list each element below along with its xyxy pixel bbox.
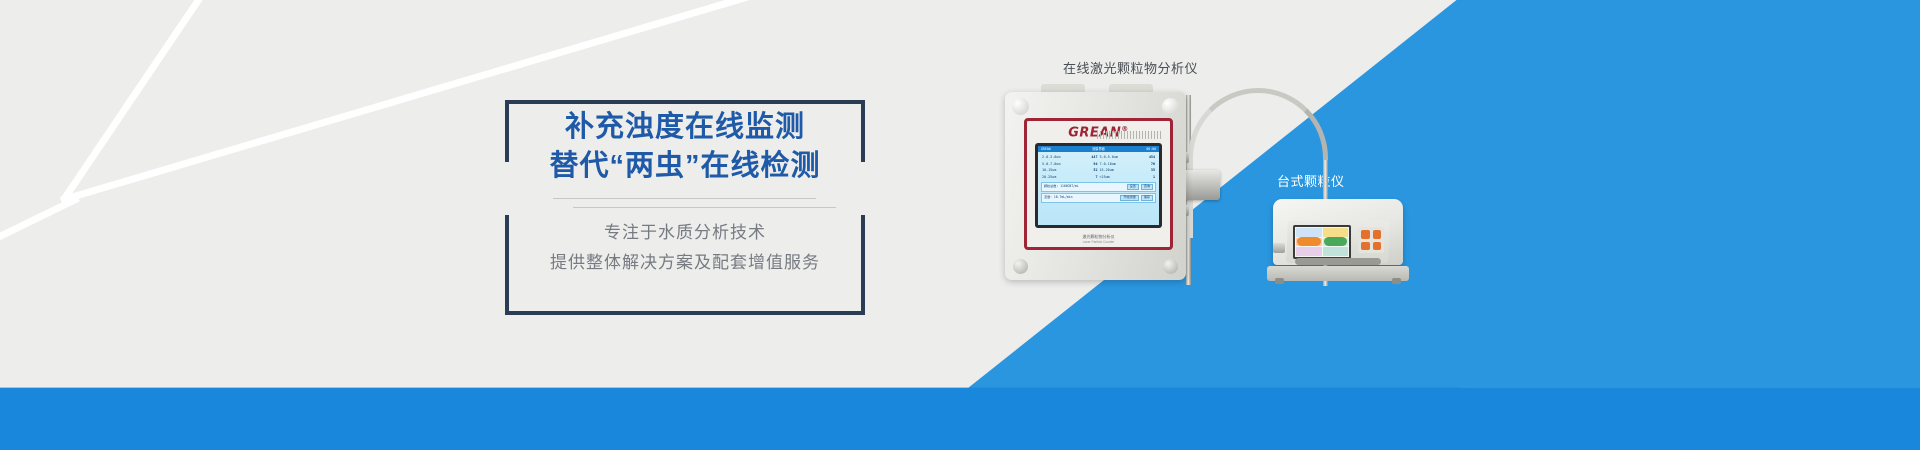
screen-tile [1323, 228, 1349, 237]
keypad-button[interactable] [1373, 242, 1382, 251]
analyzer-model-en: Laser Particle Counter [1027, 240, 1170, 244]
headline: 补充浊度在线监测 替代“两虫”在线检测 [505, 108, 865, 186]
count-value: 7 [1095, 175, 1097, 179]
size-range: 3.0-5.0um [1100, 155, 1118, 159]
desktop-handle-slot [1295, 258, 1381, 265]
screen-data-row: 10-15um52 15-20um35 [1042, 168, 1155, 172]
size-range: 10-15um [1042, 168, 1056, 172]
screen-tile [1323, 247, 1349, 256]
count-value: 76 [1151, 162, 1155, 166]
analyzer-bezel: GREAN® GREAN 测量界面 00:00 2.0-3.0um447 3.0… [1024, 118, 1173, 250]
headline-line-2: 替代“两虫”在线检测 [505, 147, 865, 186]
screen-cell: >25um1 [1100, 175, 1156, 179]
screen-measurement-table: 2.0-3.0um447 3.0-5.0um454 5.0-7.0um94 7.… [1038, 152, 1159, 179]
size-range: >25um [1100, 175, 1110, 179]
screen-data-row: 20-25um7 >25um1 [1042, 175, 1155, 179]
screen-cell: 2.0-3.0um447 [1042, 155, 1098, 159]
desktop-counter-device [1265, 193, 1411, 281]
desktop-foot-left [1275, 278, 1284, 284]
keypad-button[interactable] [1373, 230, 1382, 239]
analyzer-knob-left [1012, 98, 1029, 115]
screen-cell: 10-15um52 [1042, 168, 1098, 172]
count-value: 94 [1093, 162, 1097, 166]
screen-title-right: 00:00 [1146, 147, 1156, 151]
screen-cell: 20-25um7 [1042, 175, 1098, 179]
screen-pill-green [1324, 237, 1348, 246]
desktop-screen-pills [1297, 237, 1347, 246]
total-count-text: 颗粒总数: 1166CNT/mL [1044, 185, 1079, 189]
frame-edge-bottom [505, 311, 865, 315]
size-range: 5.0-7.0um [1042, 162, 1060, 166]
count-value: 1 [1153, 175, 1155, 179]
screen-button-query[interactable]: 查询 [1141, 184, 1153, 190]
screen-status-row-flow: 流量: 18.7mL/min 开始测量 保存 [1041, 193, 1156, 203]
screen-pill-orange [1297, 237, 1321, 246]
desktop-keypad[interactable] [1358, 227, 1384, 253]
screen-status-row-total: 颗粒总数: 1166CNT/mL 设置 查询 [1041, 182, 1156, 192]
desktop-enclosure [1273, 199, 1403, 265]
keypad-button[interactable] [1361, 242, 1370, 251]
screen-cell: 7.0-10um76 [1100, 162, 1156, 166]
size-range: 2.0-3.0um [1042, 155, 1060, 159]
divider-rule-lower [573, 207, 836, 208]
count-value: 447 [1091, 155, 1097, 159]
analyzer-vent-hatch [1097, 131, 1163, 139]
subtitle-line-1: 专注于水质分析技术 [505, 218, 865, 248]
divider-rule-upper [553, 198, 816, 199]
screen-cell: 15-20um35 [1100, 168, 1156, 172]
headline-line-1: 补充浊度在线监测 [505, 108, 865, 147]
label-online-analyzer: 在线激光颗粒物分析仪 [1063, 58, 1198, 77]
screen-cell: 5.0-7.0um94 [1042, 162, 1098, 166]
screen-tile [1296, 228, 1322, 237]
flow-rate-text: 流量: 18.7mL/min [1044, 196, 1073, 200]
size-range: 7.0-10um [1100, 162, 1116, 166]
subtitle-line-2: 提供整体解决方案及配套增值服务 [505, 248, 865, 278]
analyzer-screen[interactable]: GREAN 测量界面 00:00 2.0-3.0um447 3.0-5.0um4… [1038, 146, 1159, 225]
screen-title-left: GREAN [1041, 147, 1051, 151]
screen-cell: 3.0-5.0um454 [1100, 155, 1156, 159]
size-range: 15-20um [1100, 168, 1114, 172]
analyzer-screw-left [1013, 259, 1028, 274]
sensor-cylinder [1180, 170, 1220, 200]
count-value: 454 [1149, 155, 1155, 159]
analyzer-screen-housing: GREAN 测量界面 00:00 2.0-3.0um447 3.0-5.0um4… [1035, 143, 1162, 228]
desktop-side-port [1273, 243, 1285, 253]
size-range: 20-25um [1042, 175, 1056, 179]
screen-button-start-measure[interactable]: 开始测量 [1120, 195, 1138, 201]
count-value: 52 [1093, 168, 1097, 172]
analyzer-screw-right [1163, 259, 1178, 274]
online-analyzer-device: GREAN® GREAN 测量界面 00:00 2.0-3.0um447 3.0… [1005, 92, 1186, 280]
screen-button-group: 开始测量 保存 [1120, 195, 1153, 201]
screen-button-settings[interactable]: 设置 [1127, 184, 1139, 190]
screen-data-row: 2.0-3.0um447 3.0-5.0um454 [1042, 155, 1155, 159]
count-value: 35 [1151, 168, 1155, 172]
screen-tile [1296, 247, 1322, 256]
analyzer-model-plate: 激光颗粒物分析仪 Laser Particle Counter [1027, 234, 1170, 244]
screen-data-row: 5.0-7.0um94 7.0-10um76 [1042, 162, 1155, 166]
screen-title-center: 测量界面 [1092, 147, 1105, 151]
desktop-base [1267, 266, 1409, 281]
promo-banner: 补充浊度在线监测 替代“两虫”在线检测 专注于水质分析技术 提供整体解决方案及配… [0, 0, 1920, 450]
screen-button-save[interactable]: 保存 [1141, 195, 1153, 201]
desktop-foot-right [1392, 278, 1401, 284]
analyzer-knob-right [1162, 98, 1179, 115]
keypad-button[interactable] [1361, 230, 1370, 239]
frame-edge-top [505, 100, 865, 104]
subtitle: 专注于水质分析技术 提供整体解决方案及配套增值服务 [505, 218, 865, 278]
screen-button-group: 设置 查询 [1127, 184, 1153, 190]
